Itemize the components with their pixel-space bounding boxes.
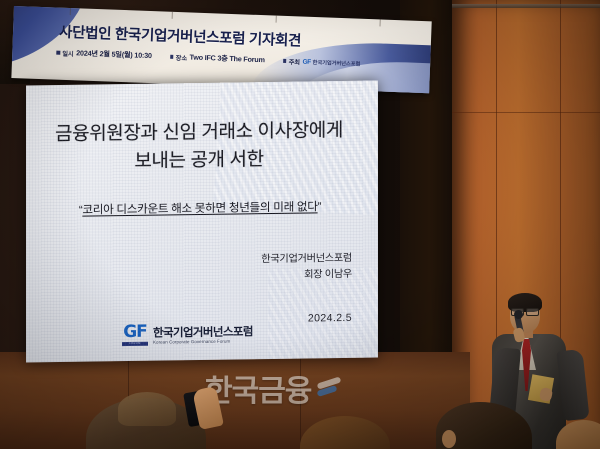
forum-logo-names: 한국기업거버넌스포럼 Korean Corporate Governance F… bbox=[153, 327, 253, 346]
banner-hook bbox=[172, 12, 173, 19]
banner-host-name: 한국기업거버넌스포럼 bbox=[312, 58, 360, 67]
banner-meta-value: 2024년 2월 5일(월) 10:30 bbox=[76, 48, 152, 61]
audience-hair-highlight bbox=[118, 392, 176, 426]
audience-ear bbox=[442, 430, 456, 448]
banner-host-logo: GF 한국기업거버넌스포럼 bbox=[302, 58, 360, 67]
projection-screen: 금융위원장과 신임 거래소 이사장에게 보내는 공개 서한 “코리아 디스카운트… bbox=[26, 81, 378, 363]
gf-logo-icon: GF FORUM bbox=[122, 324, 148, 346]
attribution-organization: 한국기업거버넌스포럼 bbox=[261, 251, 352, 269]
slide-quote-text: 코리아 디스카운트 해소 못하면 청년들의 미래 없다 bbox=[82, 200, 317, 216]
square-bullet-icon bbox=[283, 59, 287, 63]
slide-attribution: 한국기업거버넌스포럼 회장 이남우 bbox=[261, 251, 352, 285]
banner-meta-value: Two IFC 3층 The Forum bbox=[189, 52, 264, 65]
square-bullet-icon bbox=[170, 55, 174, 59]
ceiling-rail bbox=[452, 4, 600, 8]
banner-title: 사단법인 한국기업거버넌스포럼 기자회견 bbox=[59, 21, 302, 51]
slide-title-line-2: 보내는 공개 서한 bbox=[26, 144, 372, 176]
slide-title: 금융위원장과 신임 거래소 이사장에게 보내는 공개 서한 bbox=[26, 117, 372, 177]
banner-hook bbox=[379, 19, 380, 26]
slide-quote: “코리아 디스카운트 해소 못하면 청년들의 미래 없다” bbox=[26, 198, 374, 219]
watermark-text: 한국금융 bbox=[205, 366, 311, 410]
banner-meta-label: 장소 bbox=[176, 52, 188, 61]
forum-logo: GF FORUM 한국기업거버넌스포럼 Korean Corporate Gov… bbox=[122, 322, 253, 346]
banner-meta-label: 일시 bbox=[62, 48, 74, 57]
gf-logo-icon: GF bbox=[302, 58, 310, 65]
attribution-person: 회장 이남우 bbox=[261, 267, 352, 285]
banner-meta-venue: 장소 Two IFC 3층 The Forum bbox=[170, 52, 265, 65]
banner-hook bbox=[276, 16, 277, 23]
gf-logo-bar: FORUM bbox=[122, 342, 148, 346]
watermark-swoosh-icon bbox=[315, 375, 341, 401]
quote-close-mark: ” bbox=[318, 200, 322, 213]
forum-name-english: Korean Corporate Governance Forum bbox=[153, 340, 253, 346]
square-bullet-icon bbox=[56, 51, 60, 55]
watermark: 한국금융 bbox=[205, 366, 341, 410]
slide-date: 2024.2.5 bbox=[308, 312, 352, 325]
forum-name-korean: 한국기업거버넌스포럼 bbox=[153, 327, 253, 340]
press-conference-photo: 사단법인 한국기업거버넌스포럼 기자회견 일시 2024년 2월 5일(월) 1… bbox=[0, 0, 600, 449]
gf-logo-letters: GF bbox=[123, 324, 147, 341]
banner-meta-datetime: 일시 2024년 2월 5일(월) 10:30 bbox=[56, 48, 152, 61]
slide-title-line-1: 금융위원장과 신임 거래소 이사장에게 bbox=[26, 117, 372, 149]
banner-meta-label: 주최 bbox=[289, 57, 301, 66]
wood-seam bbox=[452, 112, 600, 113]
